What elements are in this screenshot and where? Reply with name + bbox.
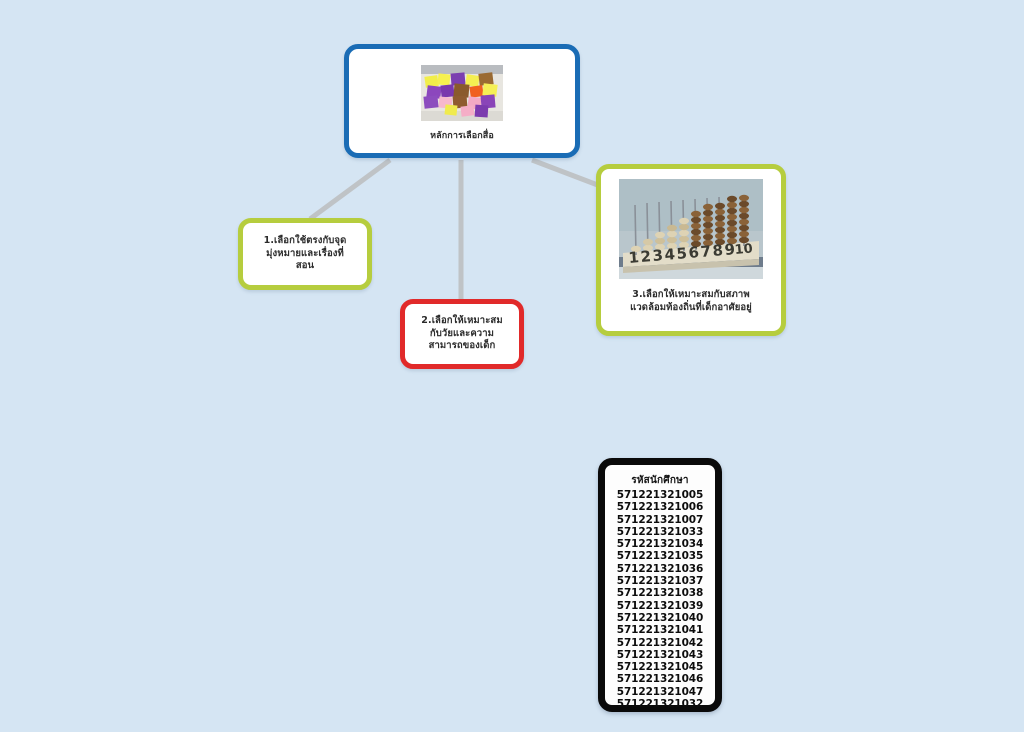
svg-text:5: 5 (676, 244, 688, 263)
student-id-header: รหัสนักศึกษา (631, 473, 688, 488)
student-id-item: 571221321041 (605, 624, 715, 636)
student-id-item: 571221321036 (605, 563, 715, 575)
student-id-item: 571221321040 (605, 612, 715, 624)
svg-text:3: 3 (652, 246, 664, 265)
svg-text:2: 2 (640, 247, 652, 266)
student-id-item: 571221321006 (605, 501, 715, 513)
svg-text:8: 8 (712, 241, 724, 260)
node-root[interactable]: หลักการเลือกสื่อ (344, 44, 580, 158)
student-id-item: 571221321034 (605, 538, 715, 550)
student-id-list: 5712213210055712213210065712213210075712… (605, 489, 715, 710)
student-id-item: 571221321047 (605, 686, 715, 698)
connector-root-to-branch-1 (310, 160, 390, 219)
node-branch-1-label: 1.เลือกใช้ตรงกับจุด มุ่งหมายและเรื่องที่… (258, 235, 353, 273)
student-id-item: 571221321038 (605, 587, 715, 599)
student-id-item: 571221321005 (605, 489, 715, 501)
student-id-item: 571221321033 (605, 526, 715, 538)
student-id-item: 571221321045 (605, 661, 715, 673)
node-root-label: หลักการเลือกสื่อ (424, 130, 500, 142)
node-branch-3-label: 3.เลือกให้เหมาะสมกับสภาพ แวดล้อมท้องถิ่น… (624, 288, 758, 315)
student-id-item: 571221321007 (605, 514, 715, 526)
student-id-card: รหัสนักศึกษา 571221321005571221321006571… (598, 458, 722, 712)
node-branch-2-label: 2.เลือกให้เหมาะสม กับวัยและความ สามารถขอ… (415, 315, 508, 353)
student-id-item: 571221321039 (605, 600, 715, 612)
student-id-item: 571221321042 (605, 637, 715, 649)
svg-text:10: 10 (734, 241, 753, 258)
abacus-counting-frame-photo: 1 2 3 4 5 6 7 8 9 10 (619, 179, 763, 279)
svg-text:7: 7 (700, 242, 712, 261)
node-branch-2[interactable]: 2.เลือกให้เหมาะสม กับวัยและความ สามารถขอ… (400, 299, 524, 369)
student-id-item: 571221321043 (605, 649, 715, 661)
node-branch-3[interactable]: 1 2 3 4 5 6 7 8 9 10 3.เลือกให้เหมาะสมกั… (596, 164, 786, 336)
student-id-item: 571221321035 (605, 550, 715, 562)
sticky-notes-photo (421, 65, 503, 121)
svg-text:4: 4 (664, 245, 676, 264)
svg-text:6: 6 (688, 243, 700, 262)
student-id-item: 571221321032 (605, 698, 715, 710)
student-id-item: 571221321037 (605, 575, 715, 587)
diagram-canvas: หลักการเลือกสื่อ 1.เลือกใช้ตรงกับจุด มุ่… (0, 0, 1024, 732)
svg-text:1: 1 (628, 248, 640, 267)
student-id-item: 571221321046 (605, 673, 715, 685)
node-branch-1[interactable]: 1.เลือกใช้ตรงกับจุด มุ่งหมายและเรื่องที่… (238, 218, 372, 290)
